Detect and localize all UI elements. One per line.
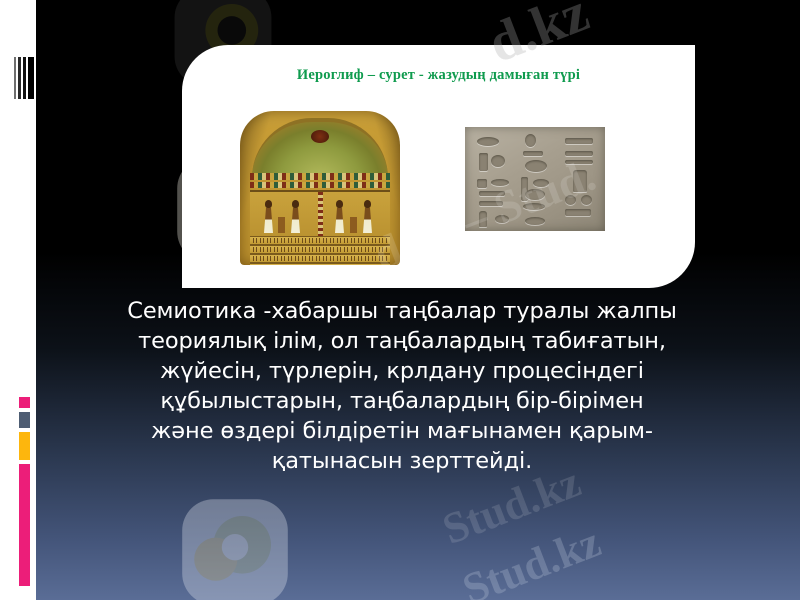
accent-bar-slate bbox=[19, 412, 30, 428]
accent-bar-pink-small bbox=[19, 397, 30, 408]
watermark-bottom: Stud.kz bbox=[456, 516, 608, 600]
presentation-slide: Иероглиф – сурет - жазудың дамыған түрі bbox=[0, 0, 800, 600]
egyptian-painted-stela-image bbox=[222, 107, 417, 265]
stud-kz-logo-watermark bbox=[175, 492, 295, 600]
accent-bar-orange bbox=[19, 432, 30, 460]
figure-group bbox=[222, 107, 657, 267]
content-card: Иероглиф – сурет - жазудың дамыған түрі bbox=[182, 45, 695, 288]
accent-bar-pink-long bbox=[19, 464, 30, 586]
barcode-icon bbox=[14, 57, 34, 99]
hieroglyph-stone-relief-image bbox=[465, 127, 605, 231]
slide-body-text: Семиотика -хабаршы таңбалар туралы жалпы… bbox=[52, 296, 752, 476]
card-title: Иероглиф – сурет - жазудың дамыған түрі bbox=[182, 67, 695, 84]
